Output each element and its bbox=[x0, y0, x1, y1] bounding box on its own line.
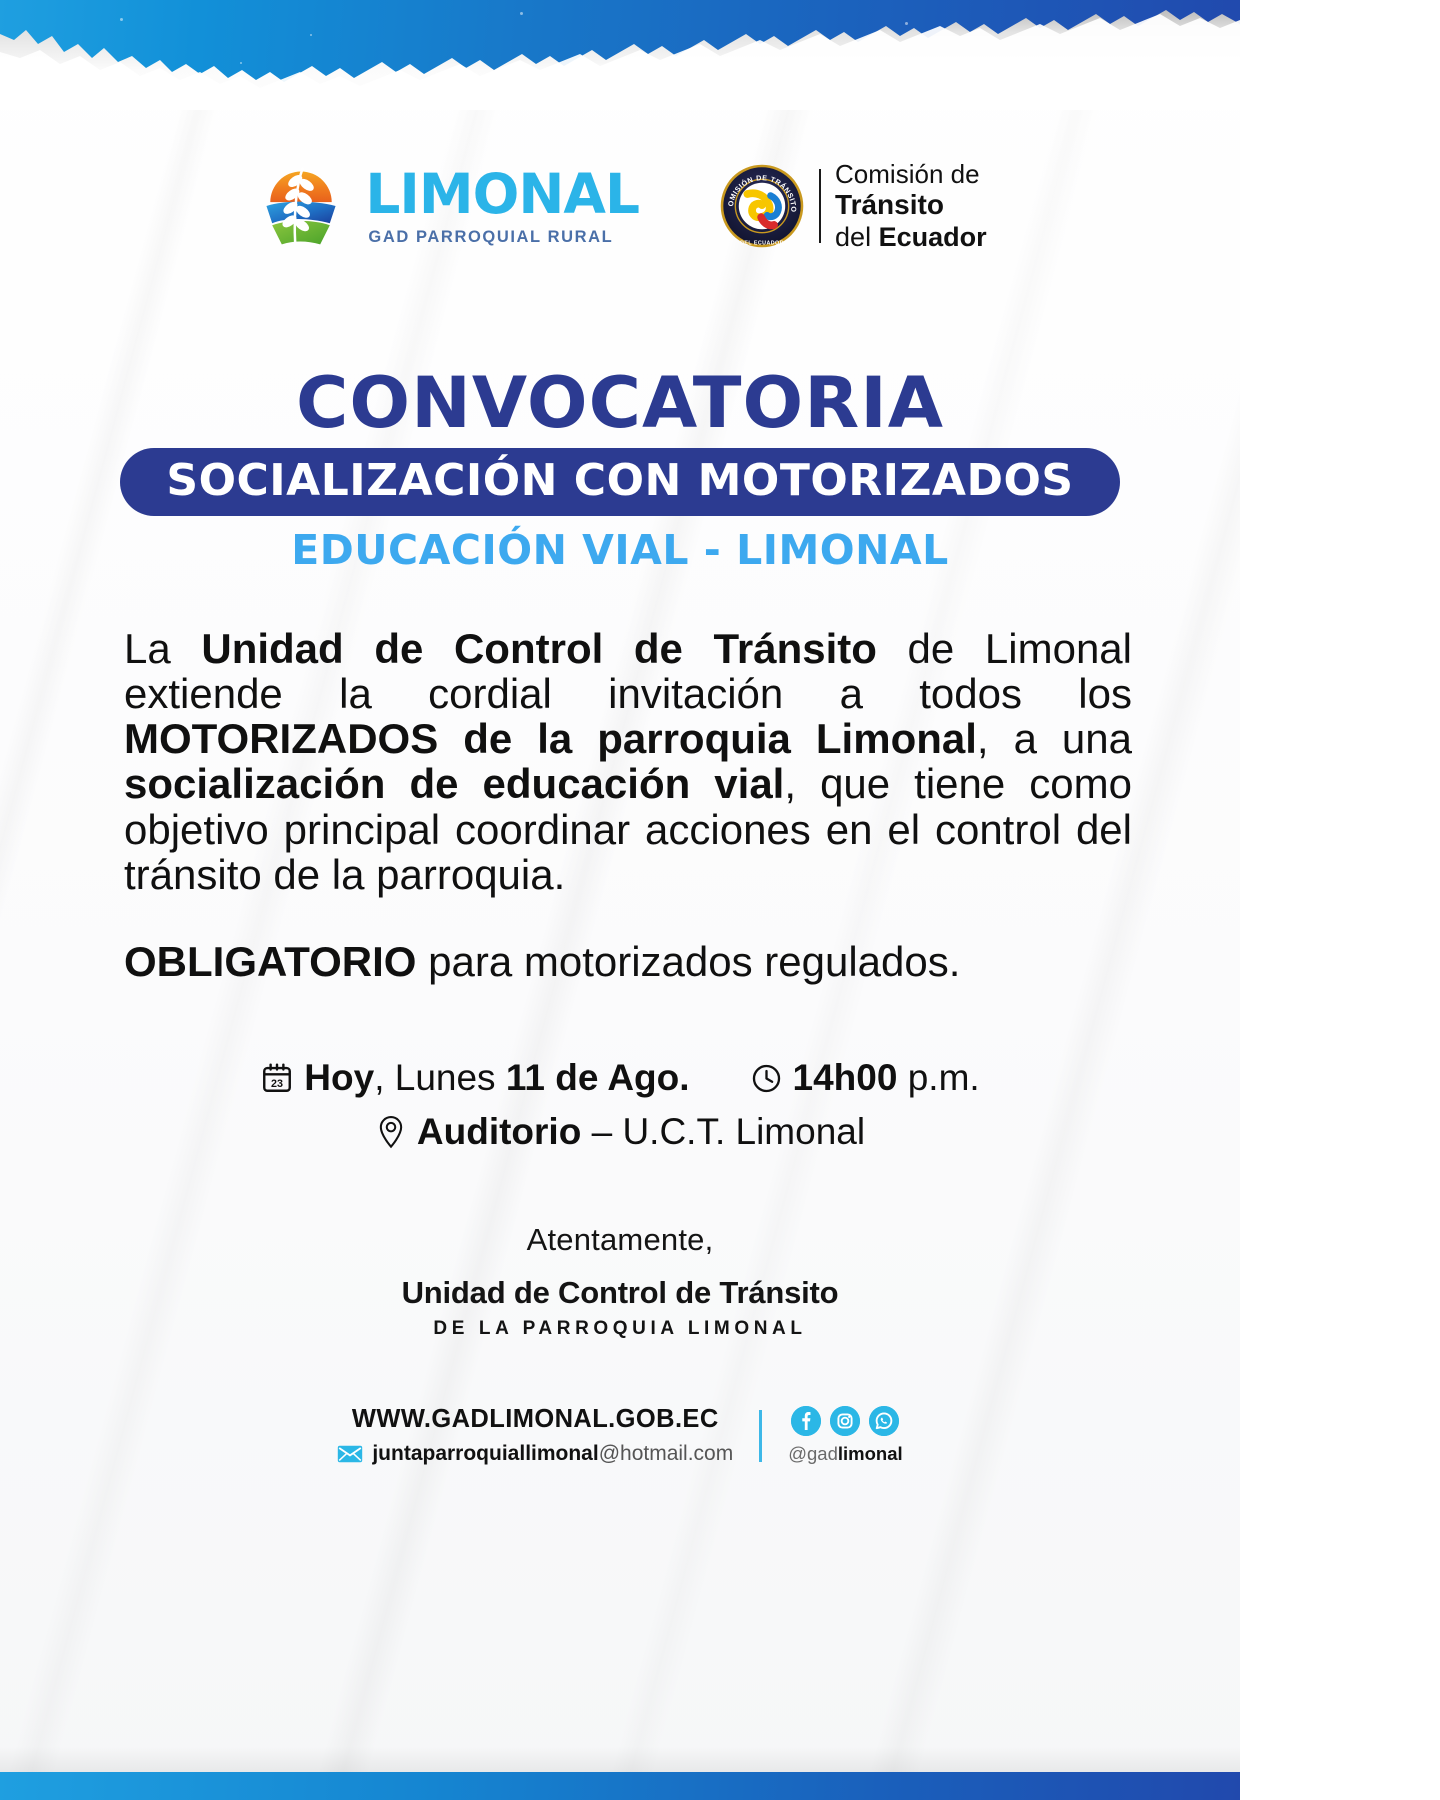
limonal-wordmark-text: LIMONAL bbox=[365, 167, 639, 222]
bottom-blue-band bbox=[0, 1772, 1240, 1800]
event-date: Hoy, Lunes 11 de Ago. bbox=[304, 1055, 689, 1101]
event-details: 23 Hoy, Lunes 11 de Ago. 14h00 p.m. Audi… bbox=[0, 1055, 1240, 1156]
footer-social: @gadlimonal bbox=[788, 1406, 902, 1465]
body-block: La Unidad de Control de Tránsito de Limo… bbox=[124, 626, 1132, 1027]
page-title: CONVOCATORIA bbox=[0, 368, 1240, 438]
bottom-shadow bbox=[0, 1746, 1240, 1772]
social-icon-row bbox=[791, 1406, 899, 1436]
footer: WWW.GADLIMONAL.GOB.EC juntaparroquiallim… bbox=[0, 1405, 1240, 1466]
cte-wordmark: Comisión de Tránsito del Ecuador bbox=[835, 159, 987, 253]
title-banner-text: SOCIALIZACIÓN CON MOTORIZADOS bbox=[166, 455, 1073, 506]
body-paragraph: La Unidad de Control de Tránsito de Limo… bbox=[124, 626, 1132, 897]
limonal-logo: LIMONAL GAD PARROQUIAL RURAL bbox=[253, 158, 639, 254]
svg-text:DEL ECUADOR: DEL ECUADOR bbox=[740, 241, 784, 247]
title-block: CONVOCATORIA SOCIALIZACIÓN CON MOTORIZAD… bbox=[0, 368, 1240, 571]
top-blue-banner bbox=[0, 0, 1240, 92]
email-line[interactable]: juntaparroquiallimonal@hotmail.com bbox=[337, 1442, 733, 1466]
body-obligatory-note: OBLIGATORIO para motorizados regulados. bbox=[124, 939, 1132, 985]
website-link[interactable]: WWW.GADLIMONAL.GOB.EC bbox=[352, 1405, 719, 1434]
detail-row-date-time: 23 Hoy, Lunes 11 de Ago. 14h00 p.m. bbox=[0, 1055, 1240, 1101]
signature-closing: Atentamente, bbox=[0, 1222, 1240, 1258]
event-place: Auditorio – U.C.T. Limonal bbox=[417, 1109, 865, 1155]
calendar-icon: 23 bbox=[260, 1061, 294, 1095]
cte-line-1: Comisión de bbox=[835, 159, 987, 189]
cte-logo: COMISIÓN DE TRÁNSITO DEL ECUADOR Comisió… bbox=[719, 159, 987, 253]
signature-parish: DE LA PARROQUIA LIMONAL bbox=[0, 1318, 1240, 1340]
cte-divider bbox=[819, 169, 821, 243]
footer-contact: WWW.GADLIMONAL.GOB.EC juntaparroquiallim… bbox=[337, 1405, 733, 1466]
limonal-tagline: GAD PARROQUIAL RURAL bbox=[368, 229, 639, 246]
signature-block: Atentamente, Unidad de Control de Tránsi… bbox=[0, 1222, 1240, 1340]
limonal-wordmark: LIMONAL GAD PARROQUIAL RURAL bbox=[365, 167, 639, 246]
title-subtitle: EDUCACIÓN VIAL - LIMONAL bbox=[0, 530, 1240, 571]
title-banner-pill: SOCIALIZACIÓN CON MOTORIZADOS bbox=[120, 448, 1119, 516]
instagram-icon[interactable] bbox=[830, 1406, 860, 1436]
clock-icon bbox=[750, 1062, 783, 1095]
footer-divider bbox=[759, 1410, 762, 1462]
calendar-day-number: 23 bbox=[271, 1078, 283, 1090]
cte-seal-icon: COMISIÓN DE TRÁNSITO DEL ECUADOR bbox=[719, 163, 805, 249]
cte-line-2: Tránsito bbox=[835, 189, 987, 221]
limonal-emblem-icon bbox=[253, 158, 349, 254]
whatsapp-icon[interactable] bbox=[869, 1406, 899, 1436]
logo-row: LIMONAL GAD PARROQUIAL RURAL bbox=[0, 158, 1240, 254]
email-icon bbox=[337, 1445, 363, 1463]
email-text: juntaparroquiallimonal@hotmail.com bbox=[372, 1442, 733, 1466]
signature-unit: Unidad de Control de Tránsito bbox=[0, 1275, 1240, 1311]
location-pin-icon bbox=[375, 1114, 407, 1150]
poster-canvas: LIMONAL GAD PARROQUIAL RURAL bbox=[0, 0, 1240, 1800]
detail-row-place: Auditorio – U.C.T. Limonal bbox=[0, 1109, 1240, 1155]
cte-line-3: del Ecuador bbox=[835, 222, 987, 253]
event-time: 14h00 p.m. bbox=[793, 1055, 980, 1101]
social-handle: @gadlimonal bbox=[788, 1443, 902, 1465]
facebook-icon[interactable] bbox=[791, 1406, 821, 1436]
